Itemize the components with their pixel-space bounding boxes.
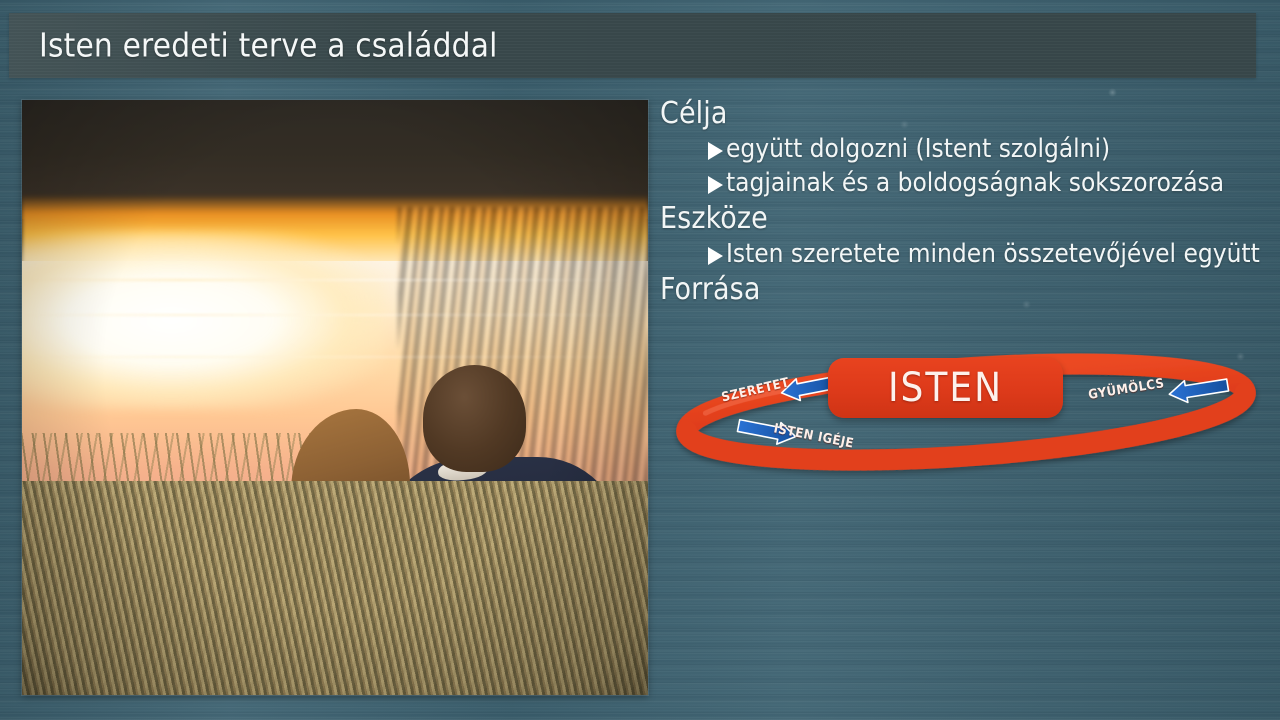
wedding-couple-photo: [22, 100, 648, 695]
slide-title: Isten eredeti terve a családdal: [39, 25, 498, 64]
isten-label: ISTEN: [888, 365, 1003, 411]
section-heading-eszkoze: Eszköze: [660, 201, 1275, 236]
photo-canvas: [22, 100, 648, 695]
presentation-slide: Isten eredeti terve a családdal: [0, 0, 1280, 720]
bullet-item: tagjainak és a boldogságnak sokszorozása: [660, 167, 1275, 201]
isten-center-box: ISTEN: [828, 358, 1063, 418]
triangle-bullet-icon: [708, 247, 723, 265]
title-banner: Isten eredeti terve a családdal: [9, 13, 1256, 78]
bullet-label: tagjainak és a boldogságnak sokszorozása: [726, 167, 1224, 201]
isten-cycle-diagram: SZERETET ISTEN IGÉJE GYÜMÖLCS ISTEN: [676, 350, 1256, 470]
section-heading-celja: Célja: [660, 96, 1275, 131]
content-column: Célja együtt dolgozni (Istent szolgálni)…: [660, 96, 1275, 310]
section-heading-forrasa: Forrása: [660, 272, 1275, 307]
bullet-item: együtt dolgozni (Istent szolgálni): [660, 133, 1275, 167]
triangle-bullet-icon: [708, 142, 723, 160]
bullet-label: Isten szeretete minden összetevőjével eg…: [726, 238, 1260, 272]
triangle-bullet-icon: [708, 176, 723, 194]
bullet-item: Isten szeretete minden összetevőjével eg…: [660, 238, 1275, 272]
bullet-label: együtt dolgozni (Istent szolgálni): [726, 133, 1110, 167]
